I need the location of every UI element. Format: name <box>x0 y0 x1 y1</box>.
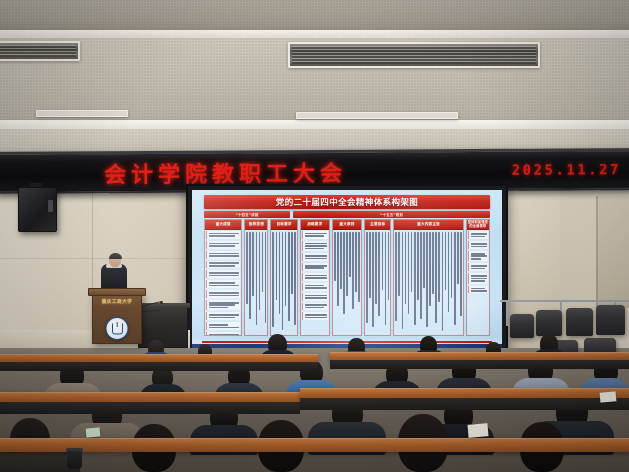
conference-chair <box>596 305 625 335</box>
podium-top <box>88 288 146 296</box>
hvac-slot-left <box>36 110 128 117</box>
paper-document <box>600 391 617 402</box>
side-table <box>138 306 188 348</box>
slide-column-header: 重大内容主张 <box>394 220 462 230</box>
slide-column-header: 指导思想 <box>245 220 267 230</box>
conference-chair <box>536 310 562 336</box>
audience-desk-front <box>0 402 300 414</box>
slide-column-header-text: 目标要求 <box>277 222 292 226</box>
slide-group-label-row: “十四五”成就 “十五五”规划 <box>204 211 490 218</box>
slide-group-label-text: “十五五”规划 <box>380 212 403 217</box>
microphone-head-icon <box>158 309 161 312</box>
slide-column-header: 战略要求 <box>301 220 329 230</box>
conference-chair <box>566 308 593 336</box>
paper-document <box>467 423 488 438</box>
slide-column-body <box>205 230 241 335</box>
slide-title-bar: 党的二十届四中全会精神体系构架图 <box>204 195 490 209</box>
slide-column-header-text: 重大内容主张 <box>417 222 440 226</box>
slide-column: 重大原则 <box>332 219 362 336</box>
slide-group-label: “十五五”规划 <box>293 211 490 218</box>
audience-desk-front <box>0 362 318 371</box>
slide-column-header: 主要目标 <box>365 220 390 230</box>
audience-desk <box>0 438 629 452</box>
slide-column: 重大成就 <box>204 219 242 336</box>
slide-column-grid: 重大成就 <box>204 219 490 336</box>
slide-column-body <box>467 230 489 335</box>
university-emblem-icon <box>106 317 129 340</box>
audience-desk-front <box>300 398 629 410</box>
wall-loudspeaker-icon <box>18 187 57 232</box>
led-banner-date: 2025.11.27 <box>512 162 621 179</box>
slide-column-header-text: 战略要求 <box>307 222 322 226</box>
slide-column: 坚持和加强党的全面领导 <box>466 219 490 336</box>
wall-seam <box>0 258 190 259</box>
slide-column-header: 重大成就 <box>205 220 241 230</box>
conference-hall-photo: 会计学院教职工大会 2025.11.27 党的二十届四中全会精神体系构架图 “十… <box>0 0 629 472</box>
audience-desk-front <box>330 360 629 369</box>
hvac-vent-left <box>0 41 80 61</box>
slide-column-body <box>333 230 361 335</box>
slide-column: 重大内容主张 <box>393 219 463 336</box>
ceiling-back-panel <box>0 0 629 34</box>
right-wall-frame <box>596 196 629 308</box>
slide-column-header: 目标要求 <box>271 220 296 230</box>
slide-column-header: 坚持和加强党的全面领导 <box>467 220 489 230</box>
podium: 重庆工商大学 <box>92 292 142 344</box>
slide-column-body <box>271 230 296 335</box>
conference-chair <box>510 314 534 338</box>
paper-document <box>86 427 101 437</box>
speaker-hair <box>109 253 122 259</box>
podium-institution-text: 重庆工商大学 <box>93 299 141 305</box>
railing-post <box>506 300 508 326</box>
slide-column: 战略要求 <box>300 219 330 336</box>
slide-column-header: 重大原则 <box>333 220 361 230</box>
projection-screen: 党的二十届四中全会精神体系构架图 “十四五”成就 “十五五”规划 重大成就 <box>186 184 508 354</box>
microphone-head-icon <box>160 301 163 304</box>
slide-column-body <box>394 230 462 335</box>
railing <box>500 300 629 302</box>
slide-column-header-text: 指导思想 <box>249 222 264 226</box>
slide-column: 指导思想 <box>244 219 268 336</box>
hvac-vent-center <box>288 42 540 68</box>
slide-column-body <box>301 230 329 335</box>
drink-cup <box>67 451 82 469</box>
slide-column: 目标要求 <box>270 219 297 336</box>
slide-column-header-text: 重大原则 <box>339 222 354 226</box>
slide-canvas: 党的二十届四中全会精神体系构架图 “十四五”成就 “十五五”规划 重大成就 <box>192 190 502 348</box>
slide-column: 主要目标 <box>364 219 391 336</box>
slide-group-label-text: “十四五”成就 <box>236 212 259 217</box>
slide-column-body <box>245 230 267 335</box>
slide-column-header-text: 主要目标 <box>370 222 385 226</box>
hvac-slot-center <box>296 112 458 119</box>
slide-column-header-text: 重大成就 <box>216 222 231 226</box>
slide-column-header-text: 坚持和加强党的全面领导 <box>467 221 489 228</box>
slide-group-label: “十四五”成就 <box>204 211 290 218</box>
slide-footer-accent-red <box>202 341 492 343</box>
slide-column-body <box>365 230 390 335</box>
slide-title-text: 党的二十届四中全会精神体系构架图 <box>276 196 418 208</box>
